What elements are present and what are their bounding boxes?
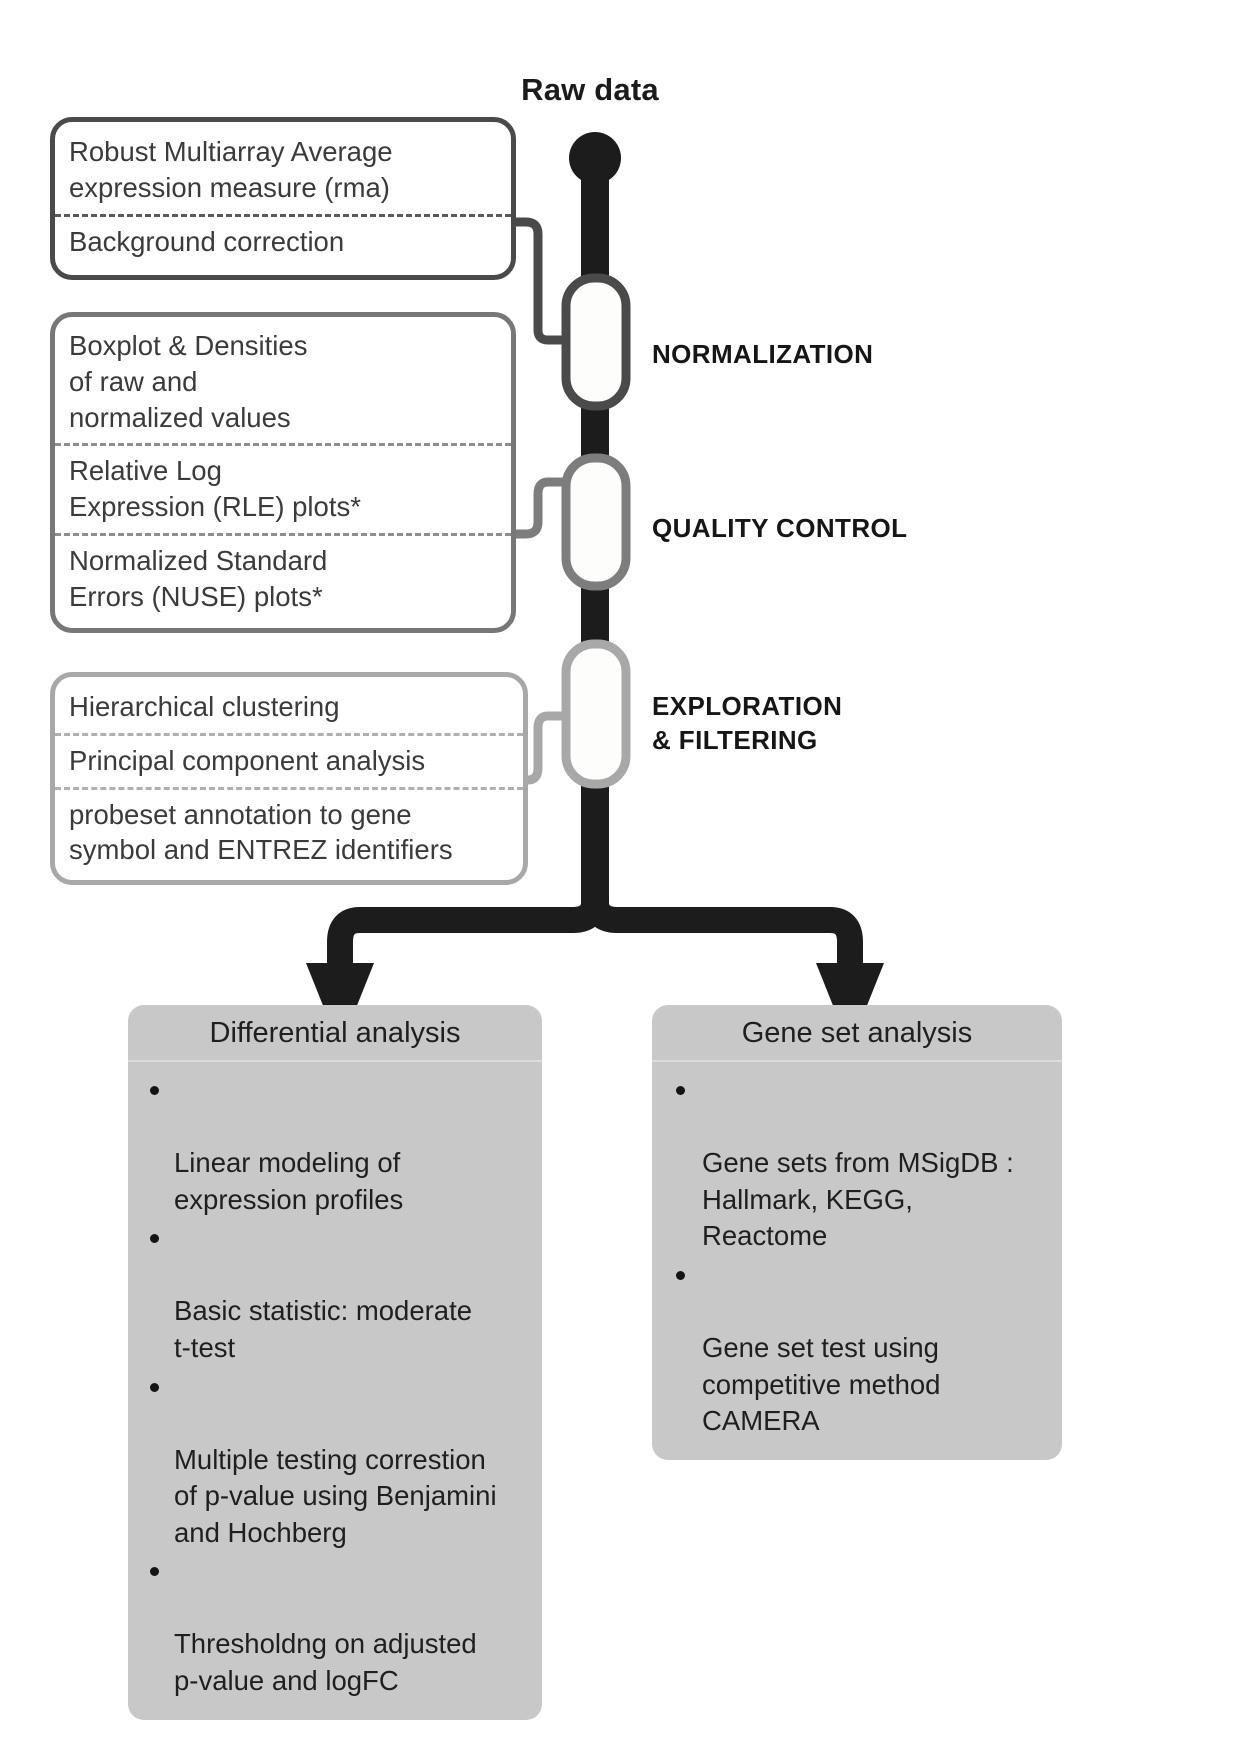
page-title: Raw data	[430, 72, 750, 108]
workflow-diagram: Raw data Robust Multiarray Average expre…	[0, 0, 1240, 1753]
output-panel-differential-analysis[interactable]: Differential analysis Linear modeling of…	[128, 1005, 542, 1720]
stage-row: Robust Multiarray Average expression mea…	[55, 122, 511, 214]
stage-row: Boxplot & Densities of raw and normalize…	[55, 317, 511, 443]
list-item-label: Linear modeling of expression profiles	[174, 1147, 403, 1215]
stage-node-quality-control[interactable]	[516, 458, 626, 586]
stage-row: Principal component analysis	[55, 733, 523, 787]
stage-row: Relative Log Expression (RLE) plots*	[55, 443, 511, 533]
stage-row: probeset annotation to gene symbol and E…	[55, 787, 523, 881]
panel-bullet-list: Gene sets from MSigDB : Hallmark, KEGG, …	[652, 1062, 1062, 1460]
stage-card-normalization[interactable]: Robust Multiarray Average expression mea…	[50, 117, 516, 280]
list-item-label: Basic statistic: moderate t-test	[174, 1295, 472, 1363]
list-item-label: Multiple testing correstion of p-value u…	[174, 1444, 497, 1548]
stage-card-exploration-filtering[interactable]: Hierarchical clustering Principal compon…	[50, 672, 528, 885]
list-item: Linear modeling of expression profiles	[144, 1072, 528, 1218]
panel-title: Gene set analysis	[652, 1005, 1062, 1062]
bullet-dot	[150, 1567, 159, 1576]
list-item: Gene set test using competitive method C…	[668, 1257, 1048, 1440]
stage-card-quality-control[interactable]: Boxplot & Densities of raw and normalize…	[50, 312, 516, 633]
stage-node-exploration[interactable]	[518, 644, 626, 784]
bullet-dot	[150, 1086, 159, 1095]
bullet-dot	[150, 1234, 159, 1243]
stage-row: Hierarchical clustering	[55, 677, 523, 733]
stage-label-exploration-filtering: EXPLORATION & FILTERING	[652, 690, 842, 758]
list-item: Gene sets from MSigDB : Hallmark, KEGG, …	[668, 1072, 1048, 1255]
list-item: Thresholdng on adjusted p-value and logF…	[144, 1553, 528, 1699]
bullet-dot	[676, 1086, 685, 1095]
stage-label-normalization: NORMALIZATION	[652, 338, 873, 372]
list-item-label: Gene sets from MSigDB : Hallmark, KEGG, …	[702, 1147, 1014, 1251]
list-item-label: Thresholdng on adjusted p-value and logF…	[174, 1628, 477, 1696]
stage-card-rows: Hierarchical clustering Principal compon…	[55, 677, 523, 880]
stage-row: Background correction	[55, 214, 511, 276]
bullet-dot	[150, 1383, 159, 1392]
stage-card-rows: Robust Multiarray Average expression mea…	[55, 122, 511, 275]
output-panel-gene-set-analysis[interactable]: Gene set analysis Gene sets from MSigDB …	[652, 1005, 1062, 1460]
panel-bullet-list: Linear modeling of expression profiles B…	[128, 1062, 542, 1720]
stage-card-rows: Boxplot & Densities of raw and normalize…	[55, 317, 511, 628]
stage-label-quality-control: QUALITY CONTROL	[652, 512, 907, 546]
panel-title: Differential analysis	[128, 1005, 542, 1062]
list-item-label: Gene set test using competitive method C…	[702, 1332, 940, 1436]
stage-node-normalization[interactable]	[516, 222, 626, 406]
list-item: Basic statistic: moderate t-test	[144, 1220, 528, 1366]
list-item: Multiple testing correstion of p-value u…	[144, 1369, 528, 1552]
bullet-dot	[676, 1271, 685, 1280]
stage-row: Normalized Standard Errors (NUSE) plots*	[55, 533, 511, 629]
